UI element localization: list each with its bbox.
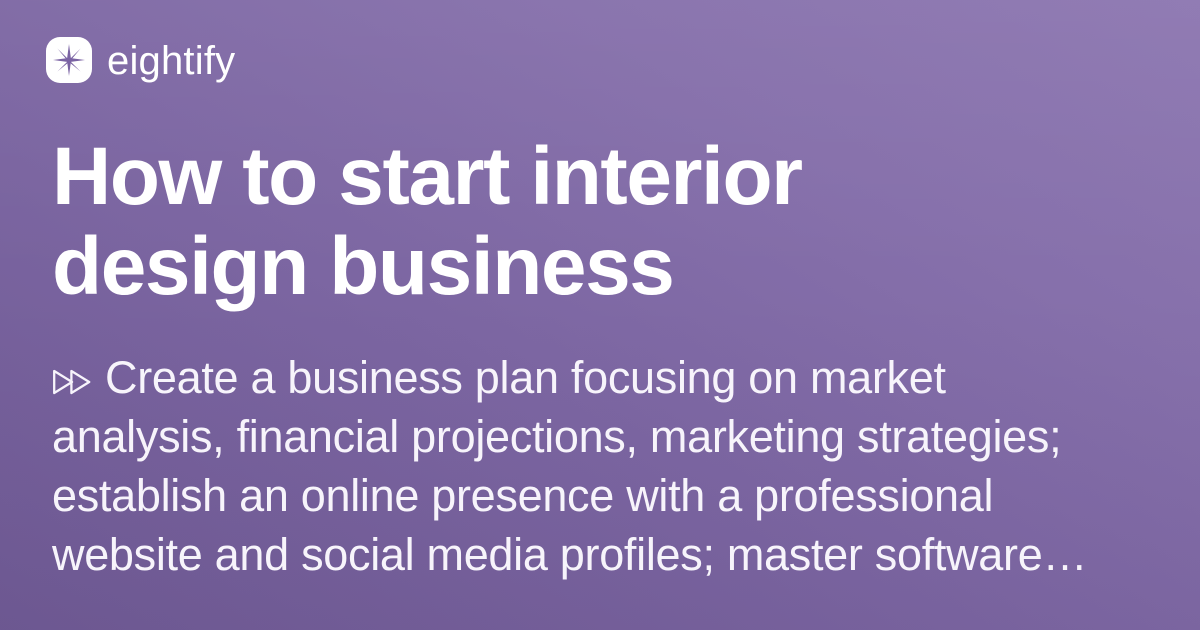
summary-line-1: Create a business plan focusing on marke… bbox=[52, 348, 1154, 407]
card-content: eightify How to start interior design bu… bbox=[0, 0, 1200, 584]
eightify-share-card: eightify How to start interior design bu… bbox=[0, 0, 1200, 630]
brand-wordmark: eightify bbox=[107, 41, 235, 81]
title-line-1: How to start interior bbox=[52, 132, 1102, 222]
eightify-starburst-icon bbox=[46, 37, 92, 83]
double-triangle-fast-forward-icon bbox=[52, 368, 92, 396]
title-line-2: design business bbox=[52, 222, 1102, 312]
brand-lockup[interactable]: eightify bbox=[46, 36, 1154, 84]
summary-text: Create a business plan focusing on marke… bbox=[52, 348, 1154, 584]
summary-line-1-text: Create a business plan focusing on marke… bbox=[105, 352, 946, 403]
summary-line-4: website and social media profiles; maste… bbox=[52, 525, 1154, 584]
page-title: How to start interior design business bbox=[52, 132, 1102, 312]
summary-line-2: analysis, financial projections, marketi… bbox=[52, 407, 1154, 466]
summary-line-3: establish an online presence with a prof… bbox=[52, 466, 1154, 525]
